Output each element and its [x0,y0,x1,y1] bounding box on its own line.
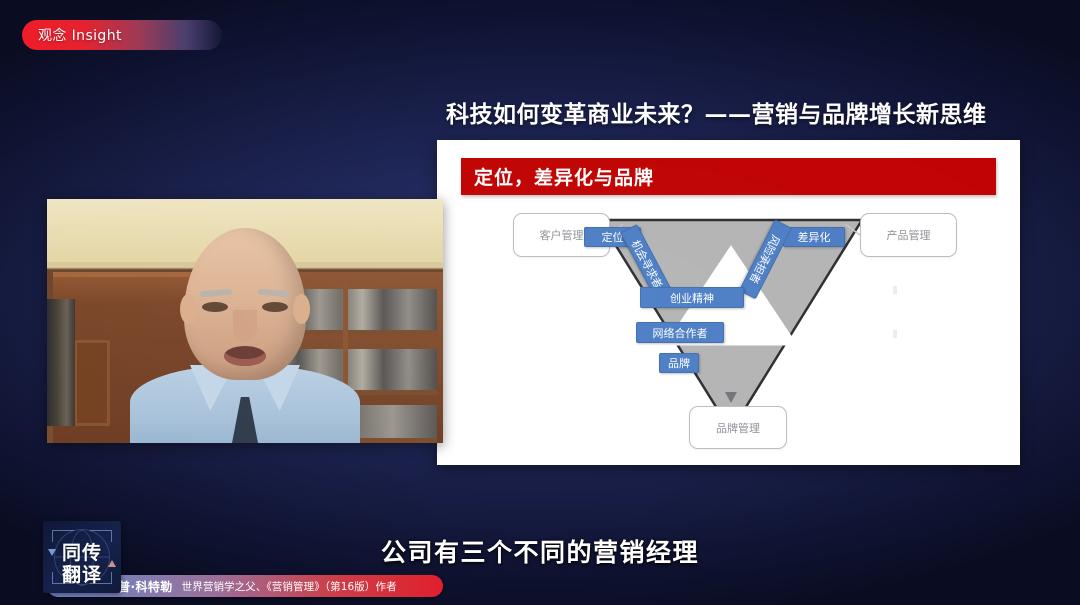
speaker-video[interactable] [47,199,443,443]
box-brand-management[interactable]: 品牌管理 [689,406,787,449]
artifact-mark-2 [893,330,897,338]
video-cabinet-panel [74,340,110,426]
pill-brand: 品牌 [659,353,699,373]
speaker-ear-left [180,294,197,324]
pill-network-partner: 网络合作者 [636,322,724,343]
insight-badge-label: 观念 Insight [38,25,122,45]
slide-panel: 定位，差异化与品牌 客户管理 [437,140,1020,465]
pill-network-partner-label: 网络合作者 [653,325,708,341]
artifact-mark-1 [893,286,897,294]
speaker-figure [130,228,360,443]
speaker-ear-right [293,294,310,324]
pill-entrepreneurship-label: 创业精神 [670,290,714,306]
video-left-books [47,299,75,426]
box-brand-management-label: 品牌管理 [716,420,760,436]
speaker-placket [232,397,258,443]
deck-title: 科技如何变革商业未来？——营销与品牌增长新思维 [446,95,1036,129]
pill-differentiation-label: 差异化 [798,229,831,245]
box-product-management-label: 产品管理 [887,227,931,243]
pill-entrepreneurship: 创业精神 [640,287,744,308]
speaker-nose [233,310,257,342]
speaker-eye-left [202,302,228,312]
box-product-management[interactable]: 产品管理 [860,213,957,257]
pill-brand-label: 品牌 [668,355,690,371]
caption-text: 公司有三个不同的营销经理 [0,533,1080,569]
speaker-mouth [224,346,266,366]
box-customer-management-label: 客户管理 [540,227,584,243]
pill-differentiation: 差异化 [783,227,845,247]
speaker-brow-right [258,289,290,298]
speaker-brow-left [200,289,232,298]
speaker-role: 世界营销学之父、《营销管理》（第16版）作者 [182,579,397,594]
pill-positioning-label: 定位 [602,229,624,245]
speaker-head [184,228,306,380]
presentation-stage: 观念 Insight 科技如何变革商业未来？——营销与品牌增长新思维 定位，差异… [0,0,1080,605]
speaker-eye-right [262,302,288,312]
insight-badge: 观念 Insight [22,20,222,50]
